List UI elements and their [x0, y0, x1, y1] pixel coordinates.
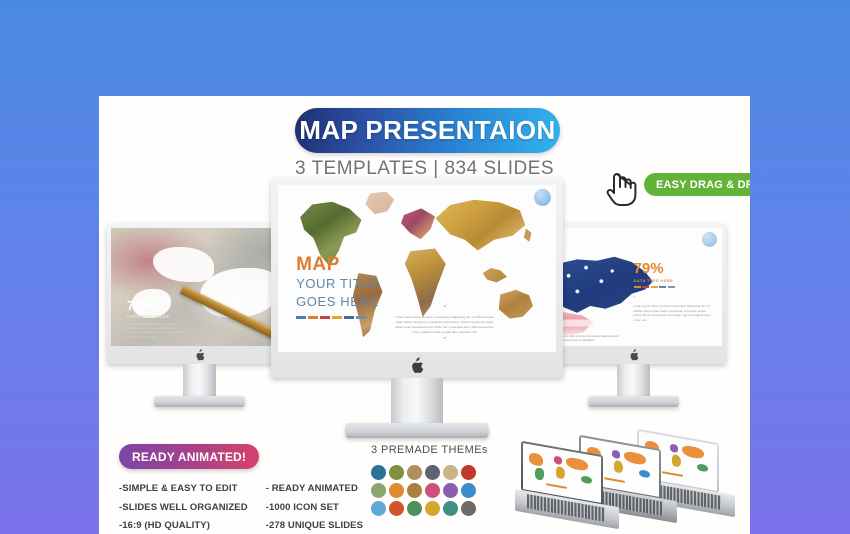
laptop-left	[521, 448, 621, 534]
stat-percent: 79%	[634, 261, 712, 276]
theme-swatch[interactable]	[443, 501, 458, 516]
list-item: - READY ANIMATED	[266, 480, 363, 499]
theme-swatch[interactable]	[407, 501, 422, 516]
drag-drop-label: EASY DRAG & DROP	[656, 179, 750, 191]
monitor-center-foot	[345, 423, 489, 438]
monitor-center-screen: MAP YOUR TITLE GOES HERE “ Lorem ipsum d…	[278, 185, 556, 352]
slide-left-content: 78% DATA TYPE HERE Lorem ipsum dolor sit…	[111, 228, 288, 346]
slide-center-title: MAP YOUR TITLE GOES HERE	[296, 255, 379, 319]
feature-column-2: - READY ANIMATED -1000 ICON SET -278 UNI…	[266, 480, 363, 534]
monitor-center-neck	[391, 378, 443, 426]
list-item: -SLIDES WELL ORGANIZED	[119, 499, 248, 518]
theme-swatch[interactable]	[443, 483, 458, 498]
theme-swatch[interactable]	[389, 501, 404, 516]
feature-column-1: -SIMPLE & EASY TO EDIT -SLIDES WELL ORGA…	[119, 480, 248, 534]
quote-text: Lorem ipsum dolor sit amet, consectetur …	[395, 315, 495, 335]
list-item: -SIMPLE & EASY TO EDIT	[119, 480, 248, 499]
theme-swatch[interactable]	[371, 465, 386, 480]
list-item: -16:9 (HD QUALITY)	[119, 517, 248, 534]
stat-body: Lorem ipsum dolor sit amet, consectetur …	[127, 322, 185, 339]
monitor-left: 78% DATA TYPE HERE Lorem ipsum dolor sit…	[107, 224, 292, 424]
apple-logo-icon	[629, 349, 639, 361]
monitor-right-screen: 79% DATA TYPE HERE “ Lorem ipsum dolor s…	[545, 228, 722, 346]
easy-drag-drop-badge: EASY DRAG & DROP	[644, 173, 750, 196]
monitor-left-foot	[154, 396, 245, 407]
monitor-right-neck	[617, 364, 650, 398]
quote-open-mark: “	[395, 305, 495, 313]
slide-title-line1: MAP	[296, 255, 379, 274]
stat-label: DATA TYPE HERE	[634, 278, 712, 283]
stat-label: DATA TYPE HERE	[127, 314, 185, 319]
list-item: -1000 ICON SET	[266, 499, 363, 518]
theme-swatch[interactable]	[389, 483, 404, 498]
quote-open-mark: “	[634, 296, 712, 302]
slide-right-stat: 79% DATA TYPE HERE “ Lorem ipsum dolor s…	[634, 261, 712, 323]
ready-animated-badge: READY ANIMATED!	[119, 444, 259, 469]
slide-accent-bars	[296, 316, 379, 319]
theme-swatch[interactable]	[425, 501, 440, 516]
slide-title-line2: YOUR TITLE	[296, 276, 379, 292]
monitor-right: 79% DATA TYPE HERE “ Lorem ipsum dolor s…	[541, 224, 726, 424]
slide-right-content: 79% DATA TYPE HERE “ Lorem ipsum dolor s…	[545, 228, 722, 346]
list-item: -278 UNIQUE SLIDES	[266, 517, 363, 534]
theme-swatch[interactable]	[371, 501, 386, 516]
slide-accent-bars	[634, 286, 712, 288]
slide-right-quote: “ Lorem ipsum dolor sit amet consectetur…	[634, 296, 712, 323]
product-title-badge: MAP PRESENTAION	[295, 108, 560, 153]
page-title: MAP PRESENTAION	[299, 115, 555, 146]
theme-swatch[interactable]	[371, 483, 386, 498]
monitor-right-foot	[588, 396, 679, 407]
hand-pointer-icon	[603, 170, 637, 208]
theme-swatch[interactable]	[461, 483, 476, 498]
theme-swatch[interactable]	[407, 465, 422, 480]
theme-swatch[interactable]	[461, 465, 476, 480]
quote-close-mark: ”	[395, 337, 495, 345]
apple-logo-icon	[410, 357, 424, 374]
monitor-left-screen: 78% DATA TYPE HERE Lorem ipsum dolor sit…	[111, 228, 288, 346]
theme-swatch[interactable]	[407, 483, 422, 498]
slide-left-stat: 78% DATA TYPE HERE Lorem ipsum dolor sit…	[127, 298, 185, 339]
monitor-center: MAP YOUR TITLE GOES HERE “ Lorem ipsum d…	[271, 178, 563, 460]
slide-center-content: MAP YOUR TITLE GOES HERE “ Lorem ipsum d…	[278, 185, 556, 352]
slide-title-line3: GOES HERE	[296, 294, 379, 310]
theme-swatch[interactable]	[443, 465, 458, 480]
feature-list: -SIMPLE & EASY TO EDIT -SLIDES WELL ORGA…	[119, 480, 363, 534]
stat-percent: 78%	[127, 298, 185, 313]
apple-logo-icon	[195, 349, 205, 361]
theme-swatch-grid	[371, 465, 488, 516]
quote-text: Lorem ipsum dolor sit amet consectetur a…	[634, 304, 712, 323]
theme-swatch[interactable]	[425, 483, 440, 498]
promo-card: MAP PRESENTAION 3 TEMPLATES | 834 SLIDES…	[99, 96, 750, 534]
monitor-left-neck	[183, 364, 216, 398]
slide-center-quote: “ Lorem ipsum dolor sit amet, consectetu…	[395, 305, 495, 345]
theme-swatch[interactable]	[461, 501, 476, 516]
slide-corner-accent	[702, 232, 717, 247]
theme-swatch[interactable]	[425, 465, 440, 480]
ready-animated-label: READY ANIMATED!	[132, 450, 246, 464]
theme-swatch[interactable]	[389, 465, 404, 480]
